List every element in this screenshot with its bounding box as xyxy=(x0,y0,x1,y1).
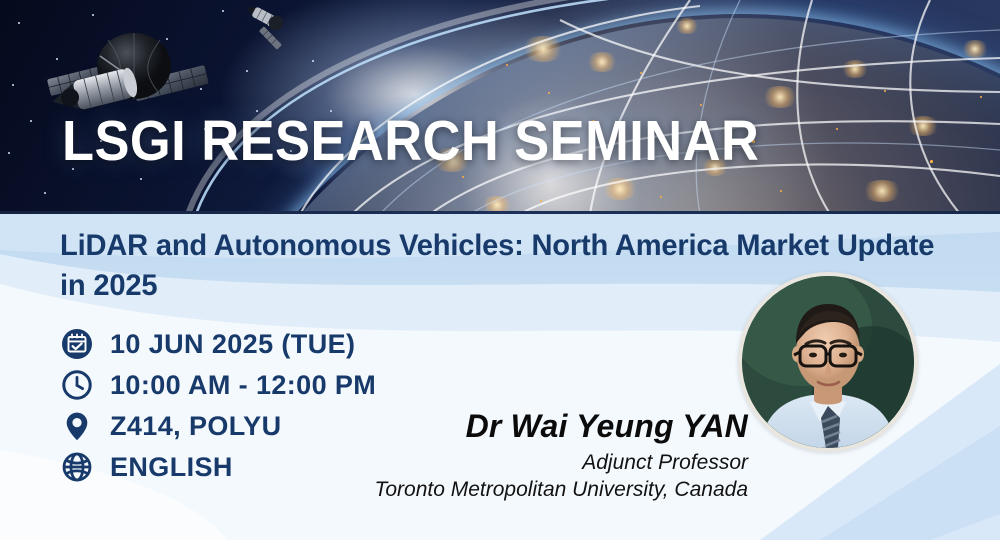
speaker-portrait-image xyxy=(742,276,914,448)
speaker-organization: Toronto Metropolitan University, Canada xyxy=(288,477,748,503)
detail-row-time: 10:00 AM - 12:00 PM xyxy=(60,365,376,405)
banner-title: LSGI RESEARCH SEMINAR xyxy=(62,113,759,170)
location-pin-icon xyxy=(60,409,94,443)
detail-row-date: 10 JUN 2025 (TUE) xyxy=(60,324,376,364)
detail-time-text: 10:00 AM - 12:00 PM xyxy=(110,370,376,401)
speaker-portrait xyxy=(738,272,918,452)
speaker-block: Dr Wai Yeung YAN Adjunct Professor Toron… xyxy=(288,409,748,504)
speaker-role: Adjunct Professor xyxy=(288,450,748,476)
calendar-icon xyxy=(60,327,94,361)
detail-venue-text: Z414, POLYU xyxy=(110,411,281,442)
seminar-poster: LSGI RESEARCH SEMINAR LiDAR and Autonomo… xyxy=(0,0,1000,540)
detail-language-text: ENGLISH xyxy=(110,452,233,483)
clock-icon xyxy=(60,368,94,402)
small-satellite-icon xyxy=(233,4,293,52)
speaker-name: Dr Wai Yeung YAN xyxy=(288,409,748,444)
globe-icon xyxy=(60,450,94,484)
detail-date-text: 10 JUN 2025 (TUE) xyxy=(110,329,355,360)
hero-banner: LSGI RESEARCH SEMINAR xyxy=(0,0,1000,214)
